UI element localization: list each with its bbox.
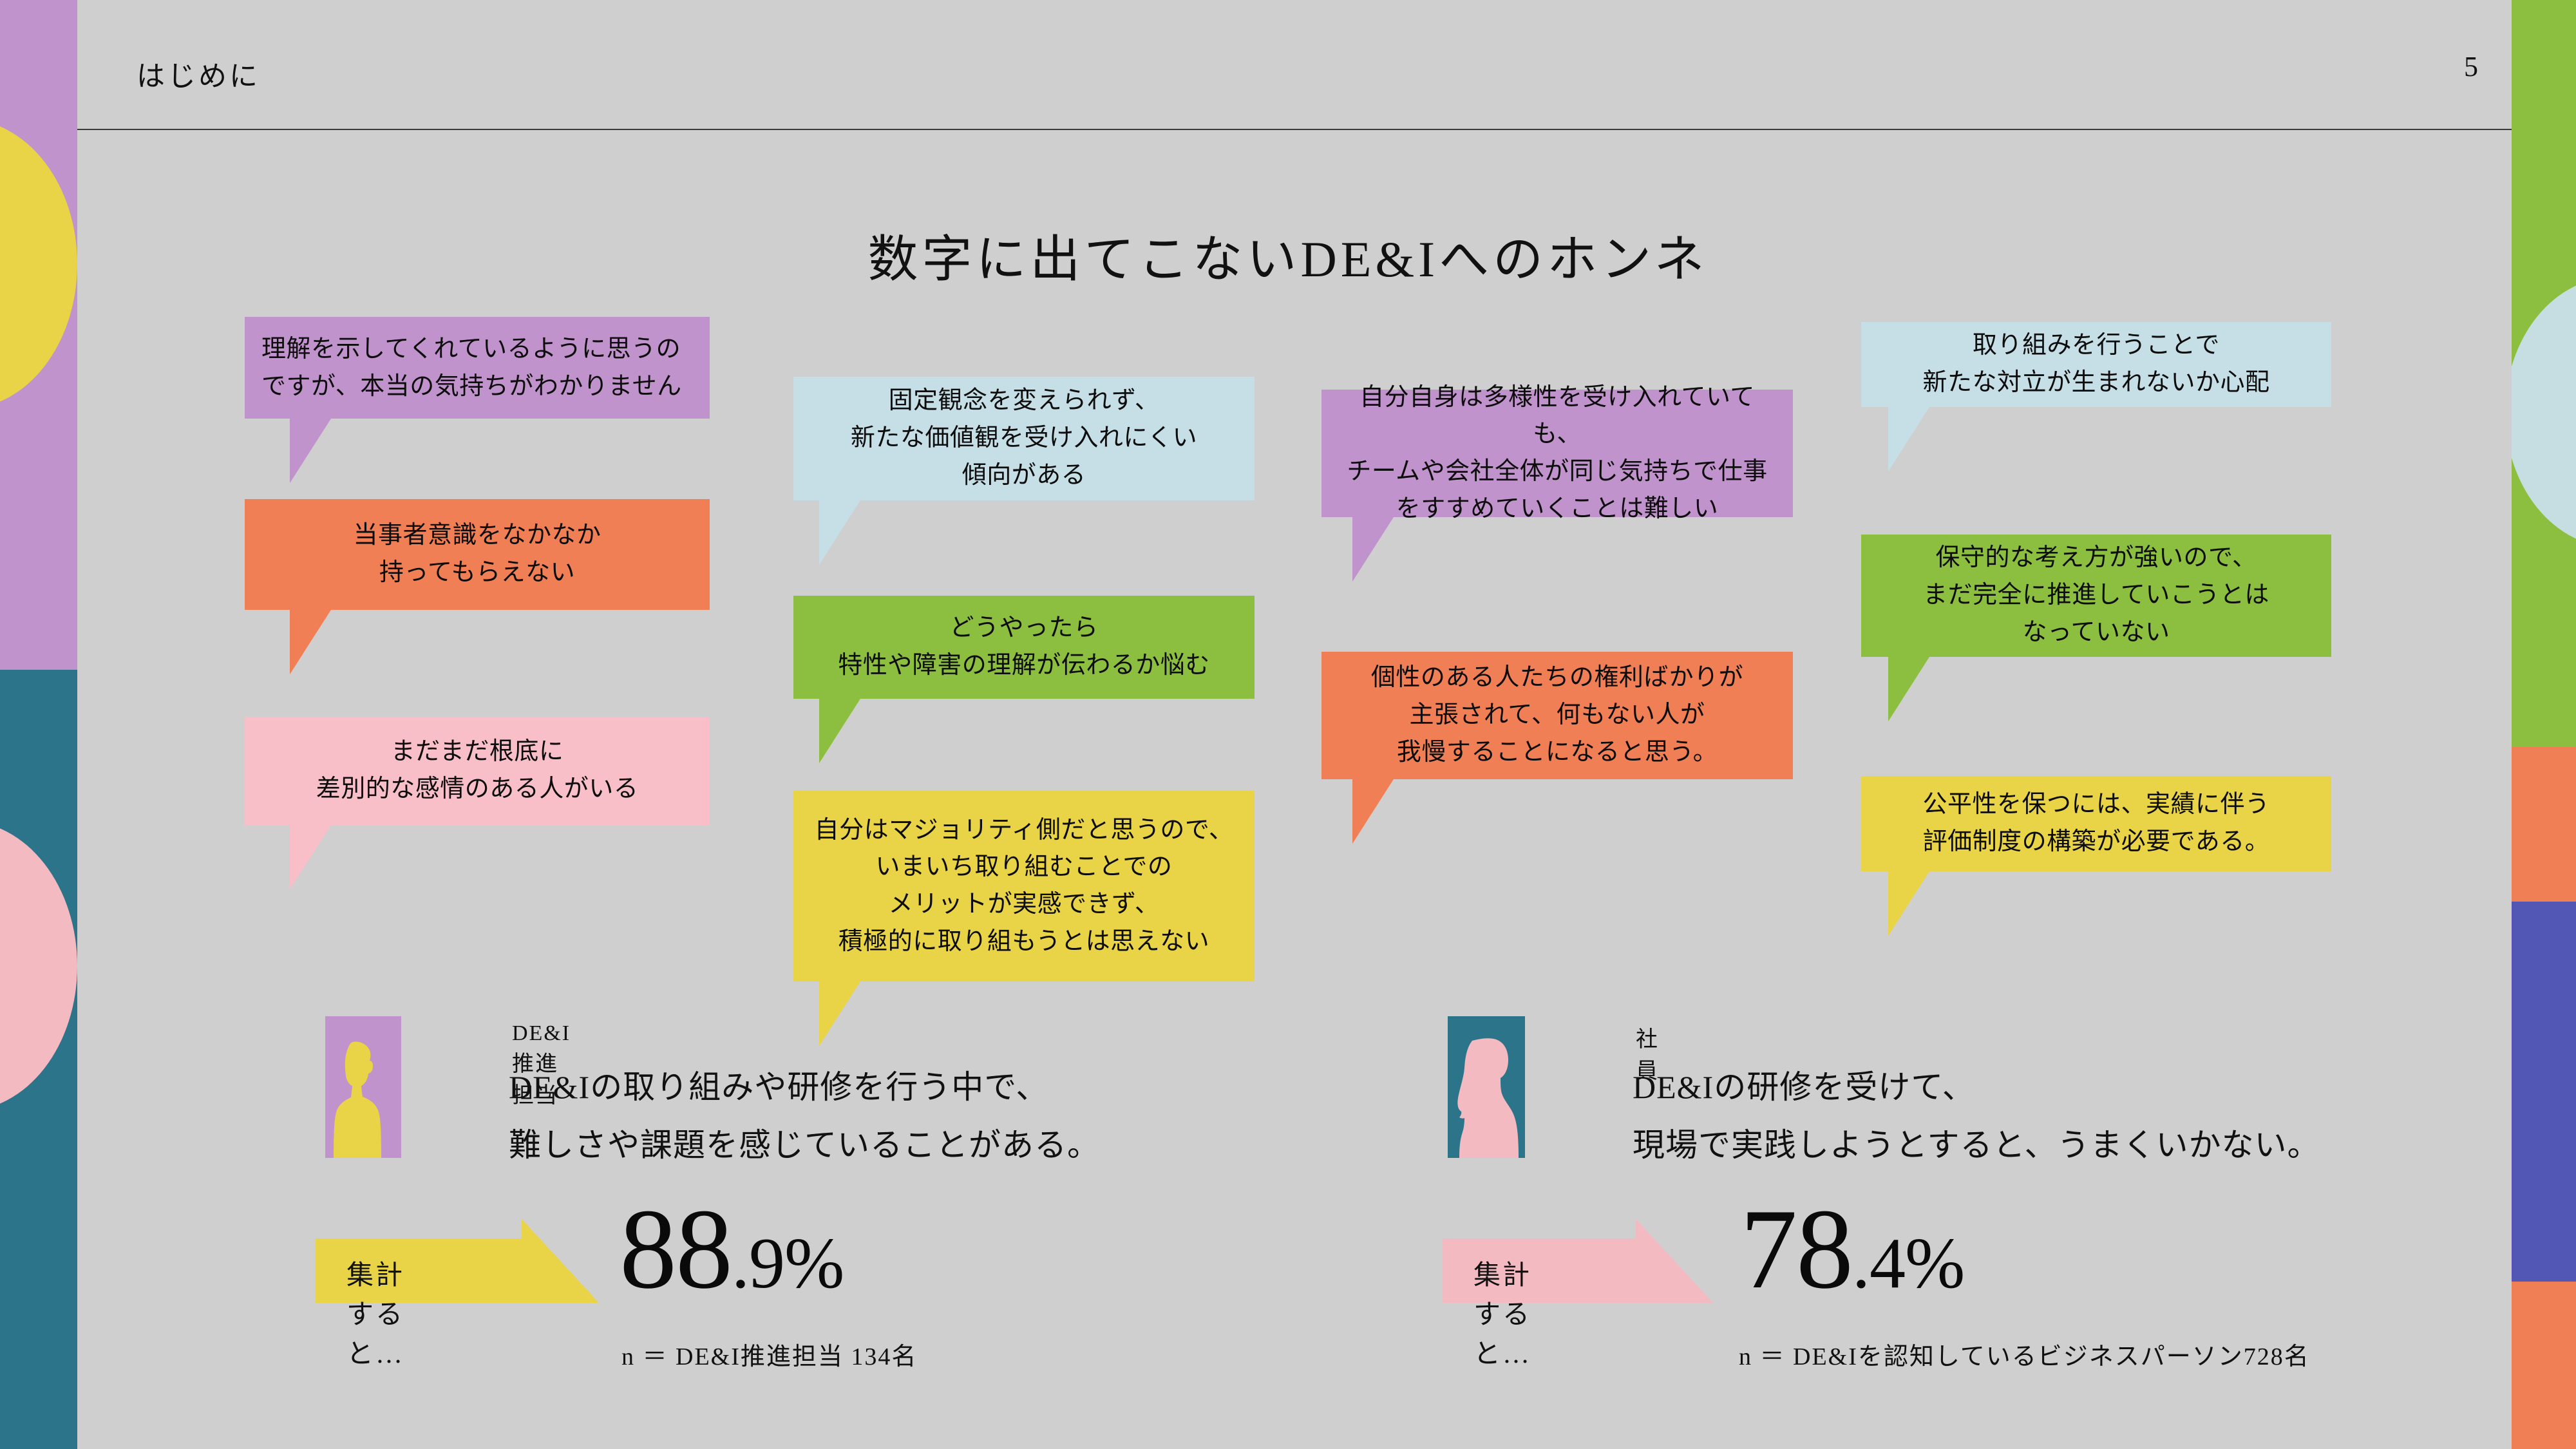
speech-bubble-text: 自分自身は多様性を受け入れていても、 チームや会社全体が同じ気持ちで仕事 をすす…	[1338, 379, 1776, 528]
speech-bubble-text: 当事者意識をなかなか 持ってもらえない	[353, 517, 601, 592]
stat-value-decimal: .9%	[732, 1224, 844, 1303]
speech-bubble-text: 保守的な考え方が強いので、 まだ完全に推進していこうとは なっていない	[1923, 540, 2269, 651]
speech-bubble-text: 公平性を保つには、実績に伴う 評価制度の構築が必要である。	[1922, 786, 2269, 861]
speech-bubble-understanding: 理解を示してくれているように思うの ですが、本当の気持ちがわかりません	[245, 317, 710, 419]
speech-bubble-new-conflict: 取り組みを行うことで 新たな対立が生まれないか心配	[1861, 322, 2331, 407]
speech-bubble-majority-side: 自分はマジョリティ側だと思うので、 いまいち取り組むことでの メリットが実感でき…	[793, 791, 1255, 981]
stat-value-integer: 78	[1740, 1185, 1852, 1312]
persona-statement-line1: DE&Iの取り組みや研修を行う中で、	[509, 1061, 1048, 1108]
persona-statement-line1: DE&Iの研修を受けて、	[1633, 1061, 1975, 1108]
page-title: 数字に出てこないDE&Iへのホンネ	[0, 219, 2576, 291]
speech-bubble-conservative: 保守的な考え方が強いので、 まだ完全に推進していこうとは なっていない	[1861, 535, 2331, 657]
right-band-blue	[2512, 902, 2576, 1282]
speech-bubble-prejudice: まだまだ根底に 差別的な感情のある人がいる	[245, 717, 710, 825]
bubble-tail-icon	[1888, 871, 1929, 936]
female-silhouette-icon	[1448, 1016, 1525, 1158]
header-divider	[77, 129, 2512, 130]
bubble-tail-icon	[290, 825, 331, 889]
right-edge-decoration	[2512, 0, 2576, 1449]
stat-percentage: 78.4%	[1740, 1191, 1964, 1306]
bubble-tail-icon	[1352, 517, 1394, 582]
stat-sample-note: n ＝ DE&I推進担当 134名	[621, 1336, 917, 1372]
speech-bubble-text: 固定観念を変えられず、 新たな価値観を受け入れにくい 傾向がある	[851, 383, 1197, 494]
speech-bubble-ownership: 当事者意識をなかなか 持ってもらえない	[245, 499, 710, 610]
slide-canvas: はじめに 5 数字に出てこないDE&Iへのホンネ 理解を示してくれているように思…	[0, 0, 2576, 1449]
speech-bubble-team-alignment: 自分自身は多様性を受け入れていても、 チームや会社全体が同じ気持ちで仕事 をすす…	[1321, 390, 1793, 517]
right-band-orange-lower	[2512, 1282, 2576, 1449]
stat-value-integer: 88	[620, 1185, 732, 1312]
persona-statement-line2: 現場で実践しようとすると、うまくいかない。	[1633, 1119, 2320, 1166]
speech-bubble-how-to-convey: どうやったら 特性や障害の理解が伝わるか悩む	[793, 596, 1255, 699]
speech-bubble-fair-evaluation: 公平性を保つには、実績に伴う 評価制度の構築が必要である。	[1861, 776, 2331, 871]
page-number: 5	[2464, 50, 2478, 83]
bubble-tail-icon	[819, 981, 860, 1046]
bubble-tail-icon	[1888, 657, 1929, 721]
bubble-tail-icon	[290, 419, 331, 483]
summary-banner-label: 集計すると…	[346, 1253, 404, 1371]
speech-bubble-text: 理解を示してくれているように思うの ですが、本当の気持ちがわかりません	[261, 331, 693, 406]
speech-bubble-text: 個性のある人たちの権利ばかりが 主張されて、何もない人が 我慢することになると思…	[1371, 659, 1743, 771]
left-edge-decoration	[0, 0, 77, 1449]
speech-bubble-text: 取り組みを行うことで 新たな対立が生まれないか心配	[1922, 327, 2269, 402]
speech-bubble-text: どうやったら 特性や障害の理解が伝わるか悩む	[838, 610, 1210, 685]
persona-statement-line2: 難しさや課題を感じていることがある。	[509, 1119, 1100, 1166]
bubble-tail-icon	[1352, 779, 1394, 844]
avatar	[325, 1016, 401, 1158]
stat-value-decimal: .4%	[1852, 1224, 1964, 1303]
bubble-tail-icon	[1888, 407, 1929, 471]
bubble-tail-icon	[819, 699, 860, 763]
section-label: はじめに	[137, 53, 260, 94]
bubble-tail-icon	[290, 610, 331, 674]
male-silhouette-icon	[325, 1016, 401, 1158]
avatar	[1448, 1016, 1525, 1158]
speech-bubble-fixed-mindset: 固定観念を変えられず、 新たな価値観を受け入れにくい 傾向がある	[793, 377, 1255, 500]
right-band-orange-upper	[2512, 747, 2576, 902]
stat-sample-note: n ＝ DE&Iを認知しているビジネスパーソン728名	[1739, 1336, 2310, 1372]
bubble-tail-icon	[819, 500, 860, 565]
summary-banner-label: 集計すると…	[1473, 1253, 1531, 1371]
speech-bubble-text: まだまだ根底に 差別的な感情のある人がいる	[316, 734, 639, 808]
speech-bubble-rights-balance: 個性のある人たちの権利ばかりが 主張されて、何もない人が 我慢することになると思…	[1321, 652, 1793, 779]
speech-bubble-text: 自分はマジョリティ側だと思うので、 いまいち取り組むことでの メリットが実感でき…	[815, 812, 1234, 961]
stat-percentage: 88.9%	[620, 1191, 844, 1306]
